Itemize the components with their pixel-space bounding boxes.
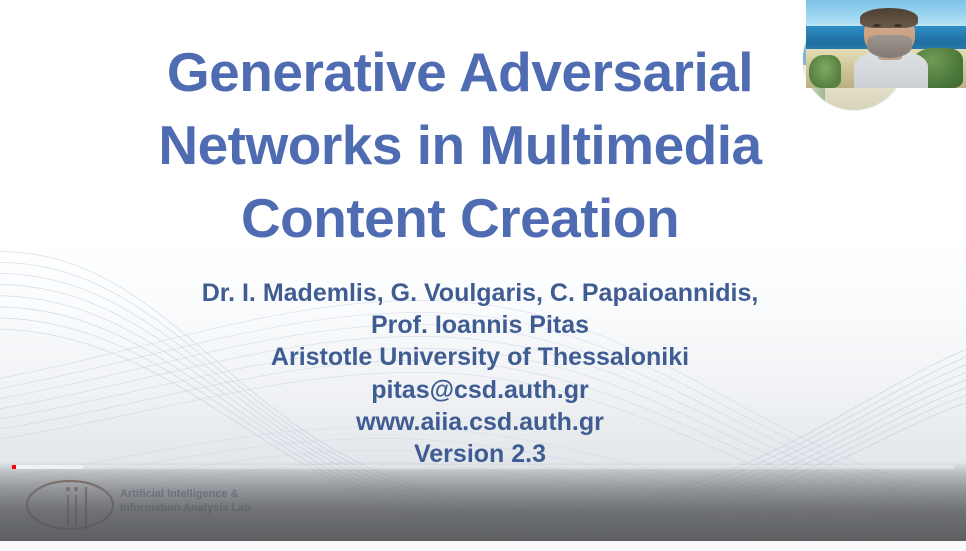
seek-bar[interactable] (12, 465, 954, 469)
presenter-beard (867, 35, 912, 58)
control-bar-gradient (0, 462, 966, 541)
video-player[interactable]: Generative Adversarial Networks in Multi… (0, 0, 966, 551)
slide-author-block: Dr. I. Mademlis, G. Voulgaris, C. Papaio… (0, 277, 960, 470)
presenter-hair (860, 8, 918, 28)
page-bottom-strip (0, 541, 966, 551)
webcam-scene (806, 0, 966, 88)
player-control-bar[interactable]: 0:04 / 1:10:30 (0, 462, 966, 541)
presenter-webcam-overlay[interactable] (806, 0, 966, 88)
slide-title: Generative Adversarial Networks in Multi… (0, 36, 920, 255)
seek-bar-loaded (12, 465, 83, 469)
seek-bar-played (12, 465, 16, 469)
webcam-shrub-left (809, 55, 841, 88)
